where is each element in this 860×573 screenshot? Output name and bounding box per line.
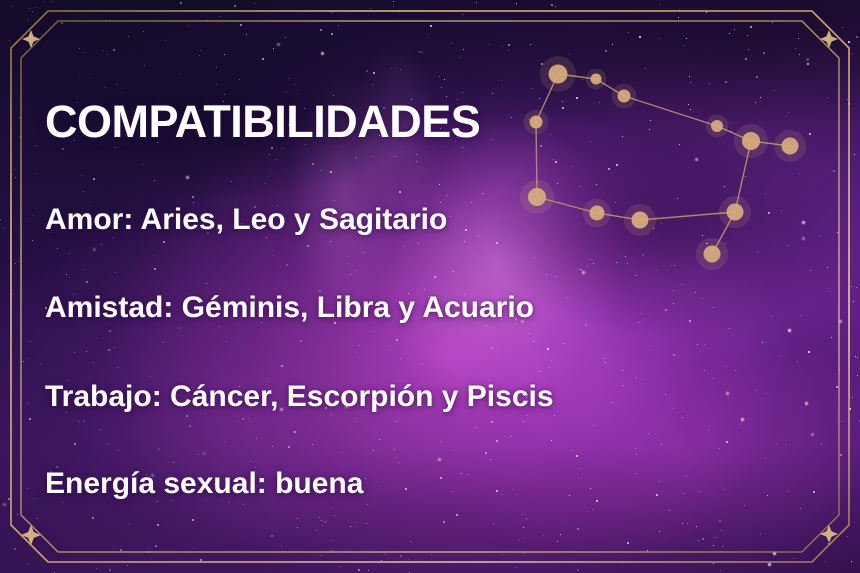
constellation-star-node bbox=[727, 204, 744, 221]
constellation-star-node bbox=[704, 246, 721, 263]
card-text-block: COMPATIBILIDADES Amor: Aries, Leo y Sagi… bbox=[45, 0, 645, 573]
constellation-star-node bbox=[711, 120, 723, 132]
compatibility-card: COMPATIBILIDADES Amor: Aries, Leo y Sagi… bbox=[0, 0, 860, 573]
sparkle-icon-bottom-left bbox=[21, 525, 41, 545]
compat-line-energia: Energía sexual: buena bbox=[45, 467, 363, 501]
sparkle-icon-top-right bbox=[820, 30, 838, 48]
constellation-star-node bbox=[742, 132, 760, 150]
constellation-star-node bbox=[782, 138, 799, 155]
compat-line-trabajo: Trabajo: Cáncer, Escorpión y Piscis bbox=[45, 380, 554, 414]
sparkle-icon-top-left bbox=[22, 30, 40, 48]
compat-line-amistad: Amistad: Géminis, Libra y Acuario bbox=[45, 291, 534, 325]
compat-line-amor: Amor: Aries, Leo y Sagitario bbox=[45, 203, 447, 237]
page-title: COMPATIBILIDADES bbox=[45, 96, 480, 148]
sparkle-icon-bottom-right bbox=[820, 525, 838, 543]
